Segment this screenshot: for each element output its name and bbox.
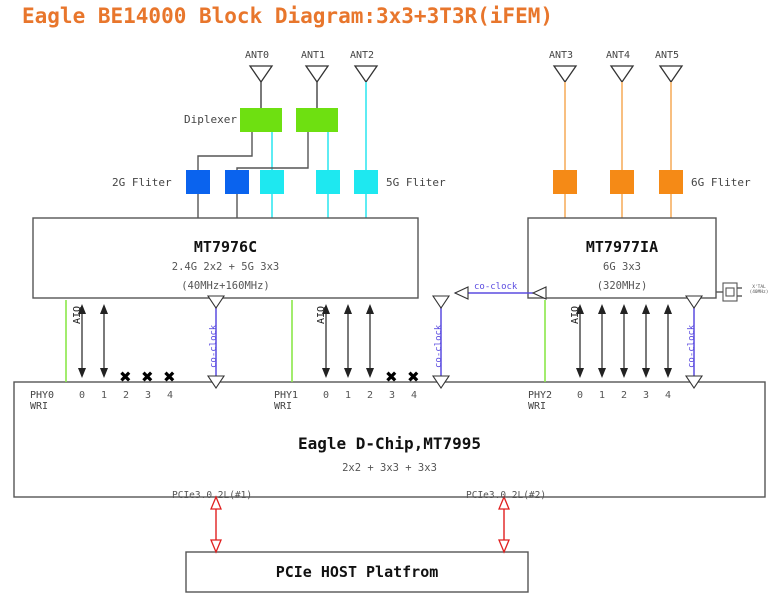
antenna-label-ant3: ANT3 bbox=[549, 50, 573, 61]
diplexer-label: Diplexer bbox=[184, 113, 237, 126]
chip-mt7976c-line2: 2.4G 2x2 + 5G 3x3 bbox=[33, 261, 418, 273]
filter-5g-block-1[interactable] bbox=[316, 170, 340, 194]
filter-5g-block-0[interactable] bbox=[260, 170, 284, 194]
co-clock-label-phy2: co-clock bbox=[687, 325, 697, 368]
co-clock-label-phy1: co-clock bbox=[434, 325, 444, 368]
filter-2g-label: 2G Fliter bbox=[112, 176, 172, 189]
pcie-link-1-arrow bbox=[211, 497, 221, 552]
antenna-label-ant4: ANT4 bbox=[606, 50, 630, 61]
filter-6g-block-1[interactable] bbox=[610, 170, 634, 194]
pcie-link-2-arrow bbox=[499, 497, 509, 552]
xtal-label-line2: (40MHz) bbox=[744, 290, 774, 295]
filter-6g-label: 6G Fliter bbox=[691, 176, 751, 189]
chip-mt7977ia-name: MT7977IA bbox=[528, 238, 716, 256]
chip-dchip[interactable]: Eagle D-Chip,MT7995 2x2 + 3x3 + 3x3 bbox=[14, 382, 765, 497]
antenna-symbols bbox=[250, 66, 682, 82]
phy2-lane-3 bbox=[642, 304, 650, 378]
antenna-label-ant2: ANT2 bbox=[350, 50, 374, 61]
filter-2g-block-0[interactable] bbox=[186, 170, 210, 194]
chip-dchip-name: Eagle D-Chip,MT7995 bbox=[14, 434, 765, 453]
aiq-label-phy2: AIQ bbox=[570, 306, 581, 324]
pcie-link-1-label: PCIe3.0 2L(#1) bbox=[172, 490, 252, 501]
diagram-lines: .gl{stroke:#555;stroke-width:1.4;fill:no… bbox=[0, 0, 778, 600]
phy1-lane-2 bbox=[366, 304, 374, 378]
pcie-host-platform-name: PCIe HOST Platfrom bbox=[186, 563, 528, 581]
chip-mt7977ia[interactable]: MT7977IA 6G 3x3 (320MHz) bbox=[528, 218, 716, 298]
antenna-label-ant5: ANT5 bbox=[655, 50, 679, 61]
co-clock-label-horizontal: co-clock bbox=[474, 282, 517, 292]
block-diagram-canvas: Eagle BE14000 Block Diagram:3x3+3T3R(iFE… bbox=[0, 0, 778, 600]
chip-dchip-line2: 2x2 + 3x3 + 3x3 bbox=[14, 462, 765, 474]
antenna-label-ant0: ANT0 bbox=[245, 50, 269, 61]
phy2-lane-1 bbox=[598, 304, 606, 378]
chip-mt7976c-name: MT7976C bbox=[33, 238, 418, 256]
filter-6g-block-0[interactable] bbox=[553, 170, 577, 194]
phy2-lane-2 bbox=[620, 304, 628, 378]
chip-mt7976c-line3: (40MHz+160MHz) bbox=[33, 280, 418, 292]
phy0-lane-1 bbox=[100, 304, 108, 378]
chip-mt7976c[interactable]: MT7976C 2.4G 2x2 + 5G 3x3 (40MHz+160MHz) bbox=[33, 218, 418, 298]
pcie-host-platform[interactable]: PCIe HOST Platfrom bbox=[186, 552, 528, 592]
chip-mt7977ia-line3: (320MHz) bbox=[528, 280, 716, 292]
diplexer-block-0[interactable] bbox=[240, 108, 282, 132]
aiq-label-phy0: AIQ bbox=[72, 306, 83, 324]
filter-5g-label: 5G Fliter bbox=[386, 176, 446, 189]
aiq-label-phy1: AIQ bbox=[316, 306, 327, 324]
phy1-lane-1 bbox=[344, 304, 352, 378]
filter-2g-block-1[interactable] bbox=[225, 170, 249, 194]
co-clock-label-phy0: co-clock bbox=[209, 325, 219, 368]
diplexer-block-1[interactable] bbox=[296, 108, 338, 132]
xtal-label: X'TAL (40MHz) bbox=[744, 285, 774, 295]
filter-5g-block-2[interactable] bbox=[354, 170, 378, 194]
antenna-label-ant1: ANT1 bbox=[301, 50, 325, 61]
chip-mt7977ia-line2: 6G 3x3 bbox=[528, 261, 716, 273]
phy2-lane-4 bbox=[664, 304, 672, 378]
pcie-link-2-label: PCIe3.0 2L(#2) bbox=[466, 490, 546, 501]
filter-6g-block-2[interactable] bbox=[659, 170, 683, 194]
